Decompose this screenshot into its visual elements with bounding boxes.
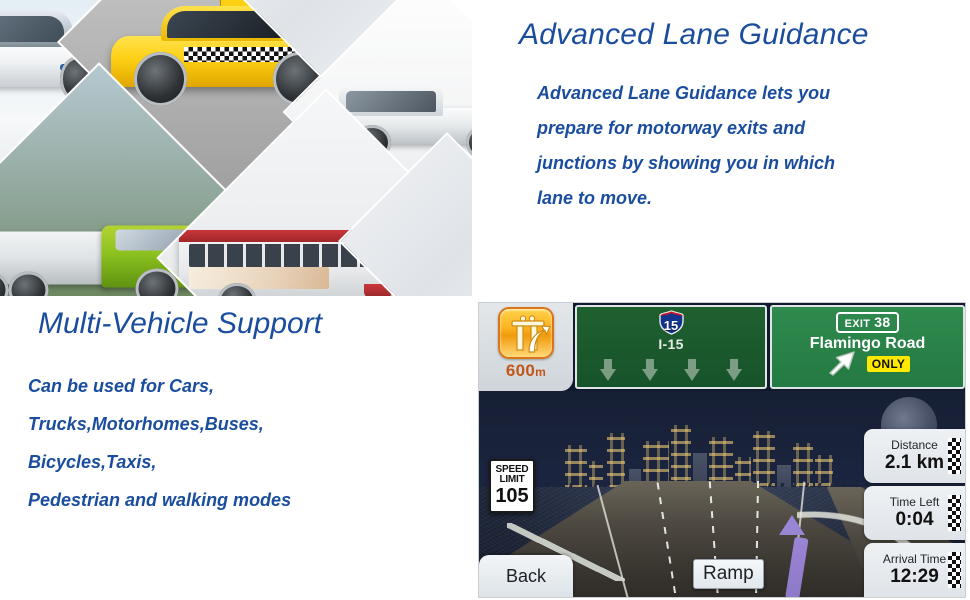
speed-limit-line-2: LIMIT bbox=[499, 475, 524, 485]
lane-guidance-body-line-2: prepare for motorway exits and bbox=[537, 111, 967, 146]
lane-guidance-body-line-4: lane to move. bbox=[537, 181, 967, 216]
maneuver-panel[interactable]: 600m bbox=[479, 303, 573, 391]
lane-guidance-body: Advanced Lane Guidance lets you prepare … bbox=[537, 76, 967, 216]
exit-number: 38 bbox=[874, 314, 890, 330]
speed-limit-value: 105 bbox=[495, 486, 528, 507]
info-value-time-left: 0:04 bbox=[895, 509, 933, 530]
lane-arrow-straight-icon bbox=[684, 359, 700, 381]
checkered-flag-icon bbox=[948, 495, 961, 531]
info-label-time-left: Time Left bbox=[890, 496, 940, 509]
multi-vehicle-title: Multi-Vehicle Support bbox=[38, 307, 322, 341]
route-direction-arrow bbox=[779, 515, 805, 598]
motorway-exit-right-icon bbox=[498, 307, 554, 359]
checkered-flag-icon bbox=[948, 552, 961, 588]
multi-vehicle-body-line-2: Trucks,Motorhomes,Buses, bbox=[28, 405, 458, 443]
info-value-arrival-time: 12:29 bbox=[890, 566, 939, 587]
maneuver-distance-unit: m bbox=[535, 365, 546, 379]
exit-arrow-up-right-icon bbox=[825, 346, 859, 381]
info-label-distance: Distance bbox=[891, 439, 938, 452]
lane-arrow-straight-icon bbox=[726, 359, 742, 381]
lane-guidance-body-line-3: junctions by showing you in which bbox=[537, 146, 967, 181]
ramp-label-button[interactable]: Ramp bbox=[693, 559, 764, 589]
lane-guidance-body-line-1: Advanced Lane Guidance lets you bbox=[537, 76, 967, 111]
info-box-distance[interactable]: Distance 2.1 km bbox=[864, 429, 965, 483]
lane-arrow-straight-icon bbox=[600, 359, 616, 381]
exit-sign-bottom-row: ONLY bbox=[772, 346, 963, 381]
road-name-label: I-15 bbox=[658, 336, 683, 352]
maneuver-distance: 600m bbox=[506, 361, 546, 381]
lane-arrow-row bbox=[577, 359, 765, 381]
info-box-arrival-time[interactable]: Arrival Time 12:29 bbox=[864, 543, 965, 597]
speed-limit-sign: SPEED LIMIT 105 bbox=[489, 459, 535, 513]
multi-vehicle-body-line-4: Pedestrian and walking modes bbox=[28, 481, 458, 519]
lane-arrow-straight-icon bbox=[642, 359, 658, 381]
checkered-flag-icon bbox=[948, 438, 961, 474]
exit-number-badge: EXIT 38 bbox=[836, 312, 900, 333]
page-root: Advanced Lane Guidance Advanced Lane Gui… bbox=[0, 0, 970, 600]
lane-guidance-sign[interactable]: 15 I-15 bbox=[575, 305, 767, 389]
gps-header: 600m 15 I-15 bbox=[479, 303, 965, 391]
vehicle-collage bbox=[0, 0, 472, 296]
interstate-shield-number: 15 bbox=[658, 310, 685, 335]
lane-guidance-title: Advanced Lane Guidance bbox=[519, 18, 970, 52]
maneuver-distance-value: 600 bbox=[506, 361, 535, 380]
gps-navigation-screen[interactable]: 600m 15 I-15 bbox=[478, 302, 966, 598]
interstate-shield-icon: 15 bbox=[658, 310, 685, 335]
back-button[interactable]: Back bbox=[479, 555, 573, 597]
trip-info-panel: Distance 2.1 km Time Left 0:04 Arrival T… bbox=[864, 426, 965, 597]
only-badge: ONLY bbox=[867, 356, 910, 372]
multi-vehicle-body-line-1: Can be used for Cars, bbox=[28, 367, 458, 405]
exit-sign[interactable]: EXIT 38 Flamingo Road ONLY bbox=[770, 305, 965, 389]
info-label-arrival-time: Arrival Time bbox=[883, 553, 946, 566]
exit-label: EXIT bbox=[845, 318, 871, 330]
multi-vehicle-body-line-3: Bicycles,Taxis, bbox=[28, 443, 458, 481]
multi-vehicle-body: Can be used for Cars, Trucks,Motorhomes,… bbox=[28, 367, 458, 519]
info-value-distance: 2.1 km bbox=[885, 452, 944, 473]
info-box-time-left[interactable]: Time Left 0:04 bbox=[864, 486, 965, 540]
